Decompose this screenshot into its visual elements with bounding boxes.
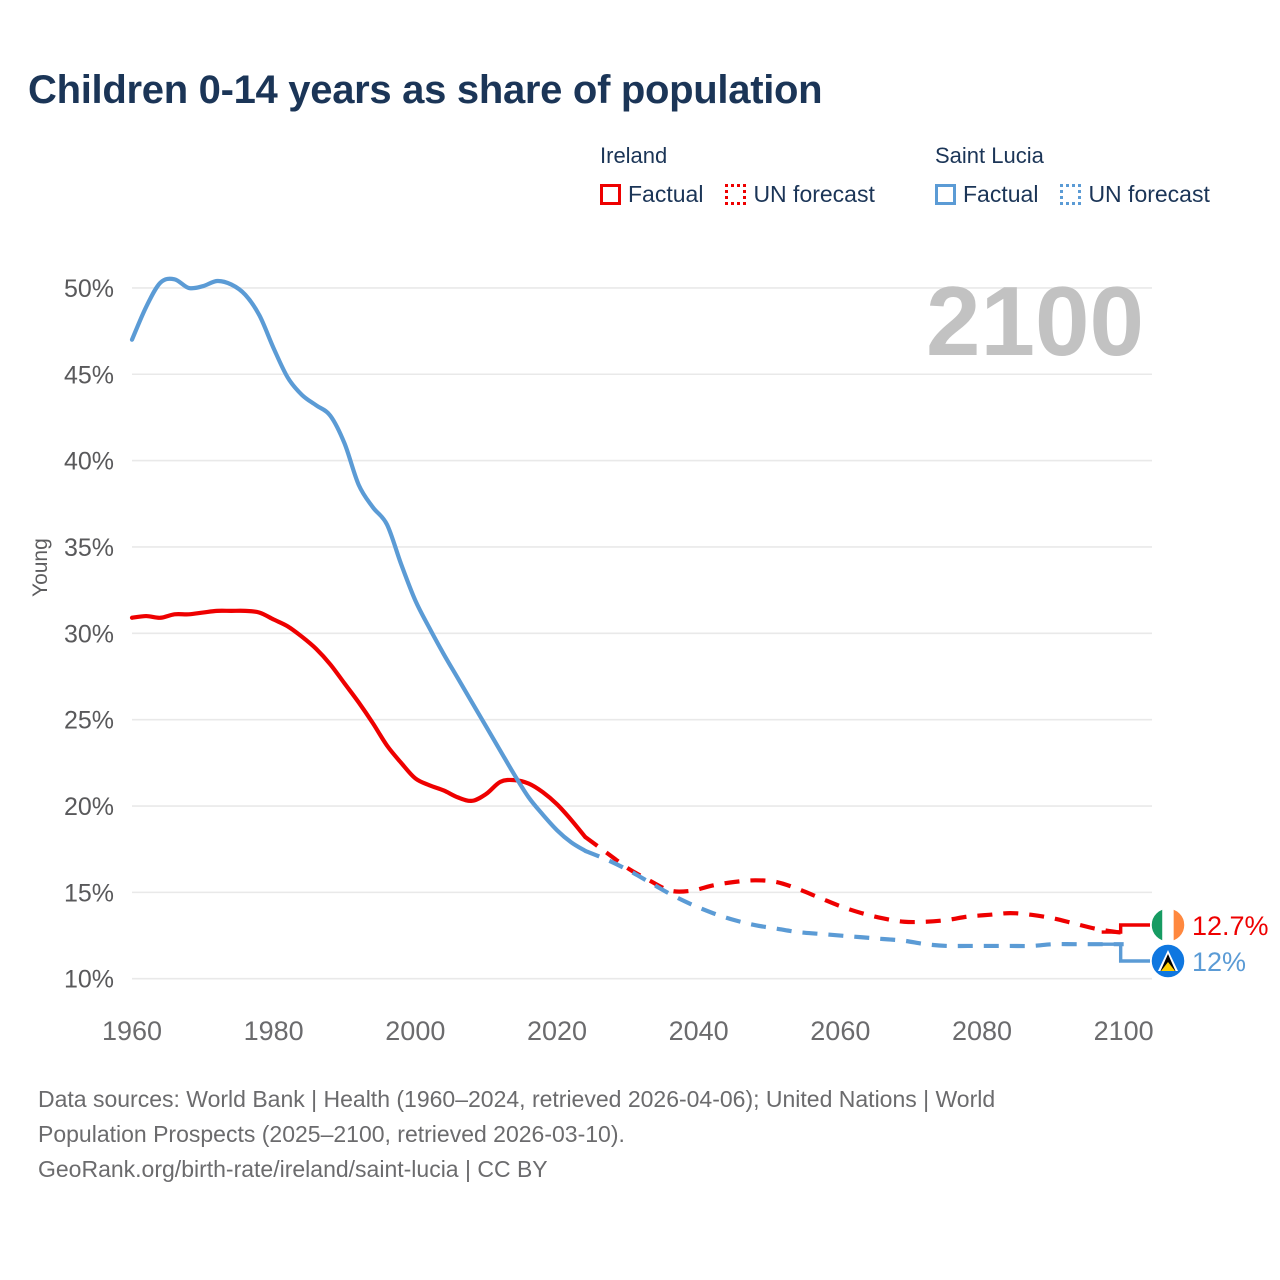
- end-connector-ireland: [1102, 925, 1150, 932]
- footer-sources: Data sources: World Bank | Health (1960–…: [38, 1082, 1218, 1187]
- x-tick-label: 1980: [244, 1016, 304, 1046]
- series-line-forecast-saint-lucia: [585, 851, 1123, 946]
- x-axis-tick-labels: 19601980200020202040206020802100: [102, 1016, 1154, 1046]
- saint-lucia-flag-icon: [1151, 944, 1185, 978]
- end-value-label-ireland: 12.7%: [1192, 911, 1269, 941]
- series-line-forecast-ireland: [585, 837, 1123, 932]
- y-tick-label: 15%: [64, 879, 114, 907]
- x-tick-label: 2040: [669, 1016, 729, 1046]
- x-tick-label: 1960: [102, 1016, 162, 1046]
- y-axis-title: Young: [29, 538, 52, 597]
- y-tick-label: 25%: [64, 707, 114, 735]
- data-series: [132, 279, 1124, 946]
- x-tick-label: 2080: [952, 1016, 1012, 1046]
- x-tick-label: 2000: [385, 1016, 445, 1046]
- y-tick-label: 30%: [64, 620, 114, 648]
- x-tick-label: 2100: [1094, 1016, 1154, 1046]
- y-tick-label: 35%: [64, 534, 114, 562]
- y-tick-label: 40%: [64, 448, 114, 476]
- y-tick-label: 10%: [64, 966, 114, 994]
- y-tick-label: 50%: [64, 275, 114, 303]
- x-tick-label: 2020: [527, 1016, 587, 1046]
- footer-line-1: Data sources: World Bank | Health (1960–…: [38, 1082, 1218, 1117]
- y-tick-label: 20%: [64, 793, 114, 821]
- watermark-year: 2100: [926, 266, 1144, 376]
- end-markers: 12.7%12%: [1102, 908, 1269, 978]
- gridlines: [132, 288, 1152, 979]
- y-tick-label: 45%: [64, 361, 114, 389]
- series-line-factual-saint-lucia: [132, 279, 585, 851]
- footer-line-3[interactable]: GeoRank.org/birth-rate/ireland/saint-luc…: [38, 1152, 1218, 1187]
- chart-page: Children 0-14 years as share of populati…: [0, 0, 1280, 1280]
- y-axis-tick-labels: 10%15%20%25%30%35%40%45%50%: [64, 275, 114, 994]
- x-tick-label: 2060: [810, 1016, 870, 1046]
- end-connector-saint-lucia: [1102, 944, 1150, 961]
- footer-line-2: Population Prospects (2025–2100, retriev…: [38, 1117, 1218, 1152]
- ireland-flag-icon: [1151, 908, 1185, 942]
- end-value-label-saint-lucia: 12%: [1192, 947, 1246, 977]
- series-line-factual-ireland: [132, 611, 585, 837]
